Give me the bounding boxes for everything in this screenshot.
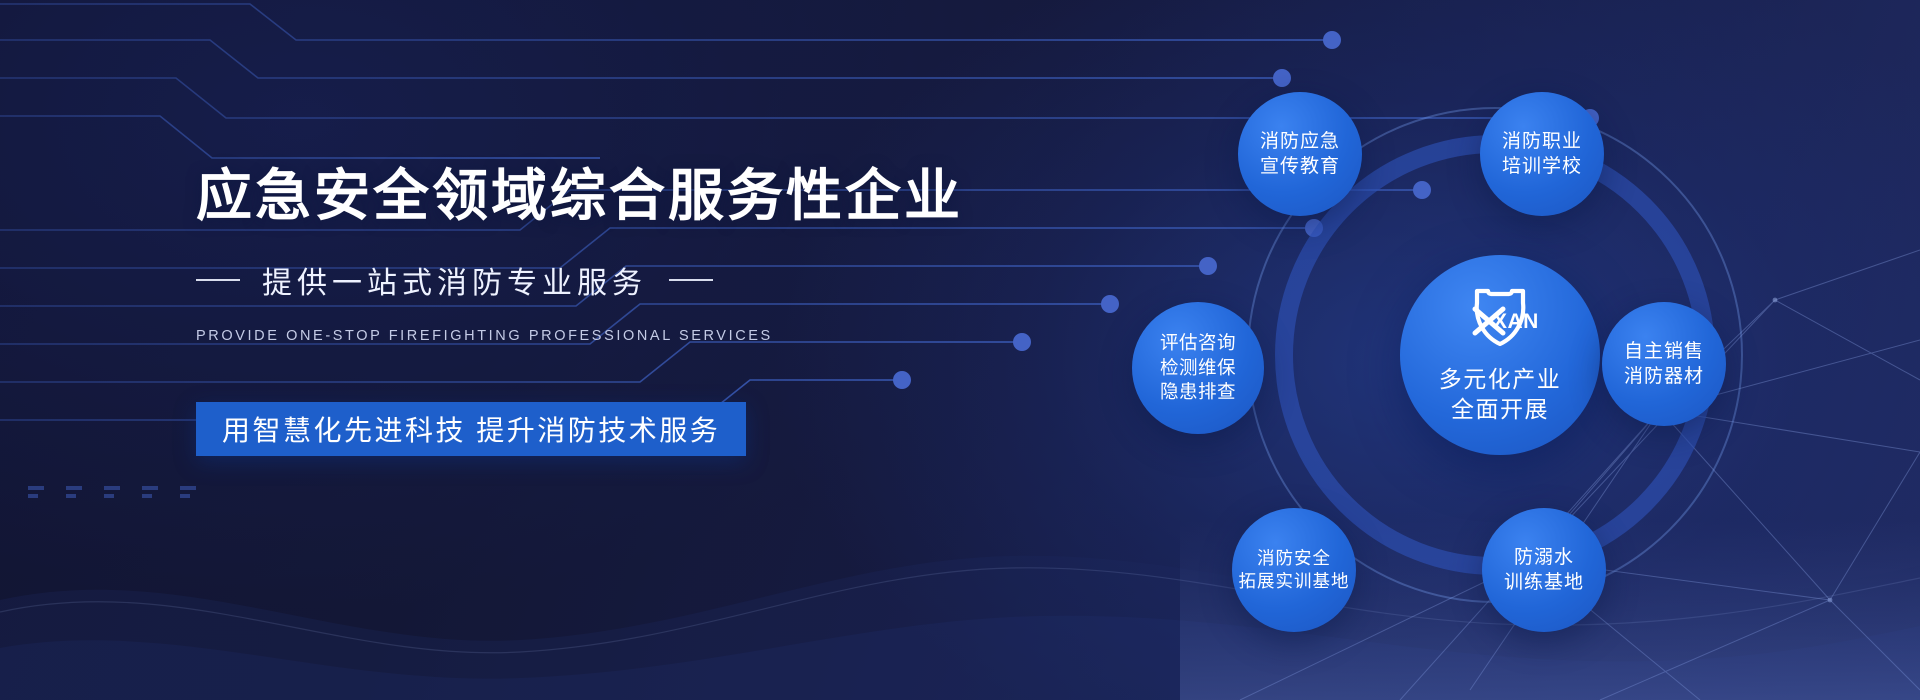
cta-banner-button[interactable]: 用智慧化先进科技 提升消防技术服务 xyxy=(196,402,746,456)
page-subtitle: 提供一站式消防专业服务 xyxy=(262,258,647,302)
node-line-2: 培训学校 xyxy=(1502,154,1582,179)
diagram-node-assessment-inspection[interactable]: 评估咨询 检测维保 隐患排查 xyxy=(1132,302,1264,434)
rule-left-decoration xyxy=(196,279,240,281)
diagram-node-fire-safety-training-base[interactable]: 消防安全 拓展实训基地 xyxy=(1232,508,1356,632)
node-line-3: 隐患排查 xyxy=(1160,380,1236,404)
diagram-node-independent-equipment-sales[interactable]: 自主销售 消防器材 xyxy=(1602,302,1726,426)
node-line-1: 消防应急 xyxy=(1260,129,1340,154)
node-line-1: 防溺水 xyxy=(1514,545,1574,570)
node-line-2: 消防器材 xyxy=(1624,364,1704,389)
diagram-center-node[interactable]: XAN 多元化产业 全面开展 xyxy=(1400,255,1600,455)
node-line-2: 宣传教育 xyxy=(1260,154,1340,179)
hero-banner: 应急安全领域综合服务性企业 提供一站式消防专业服务 PROVIDE ONE-ST… xyxy=(0,0,1920,700)
diagram-node-vocational-training-school[interactable]: 消防职业 培训学校 xyxy=(1480,92,1604,216)
node-line-2: 训练基地 xyxy=(1504,570,1584,595)
page-title: 应急安全领域综合服务性企业 xyxy=(196,168,1026,224)
node-line-2: 检测维保 xyxy=(1160,356,1236,380)
node-line-1: 评估咨询 xyxy=(1160,331,1236,355)
node-line-2: 拓展实训基地 xyxy=(1239,570,1350,593)
diagram-node-anti-drowning-training-base[interactable]: 防溺水 训练基地 xyxy=(1482,508,1606,632)
service-ecosystem-diagram: XAN 多元化产业 全面开展 消防应急 宣传教育 消防职业 培训学校 评估咨询 … xyxy=(1150,60,1850,660)
node-line-1: 消防职业 xyxy=(1502,129,1582,154)
hero-copy-block: 应急安全领域综合服务性企业 提供一站式消防专业服务 PROVIDE ONE-ST… xyxy=(196,168,1026,456)
node-line-1: 消防安全 xyxy=(1257,547,1331,570)
center-line-1: 多元化产业 xyxy=(1439,365,1562,395)
subtitle-row: 提供一站式消防专业服务 xyxy=(196,258,1026,302)
node-line-1: 自主销售 xyxy=(1624,339,1704,364)
svg-text:XAN: XAN xyxy=(1493,310,1537,333)
cta-label: 用智慧化先进科技 提升消防技术服务 xyxy=(222,409,720,449)
shield-icon: XAN xyxy=(1463,285,1537,357)
diagram-node-fire-emergency-education[interactable]: 消防应急 宣传教育 xyxy=(1238,92,1362,216)
english-subtitle: PROVIDE ONE-STOP FIREFIGHTING PROFESSION… xyxy=(196,328,1026,344)
center-line-2: 全面开展 xyxy=(1451,395,1549,425)
rule-right-decoration xyxy=(669,279,713,281)
